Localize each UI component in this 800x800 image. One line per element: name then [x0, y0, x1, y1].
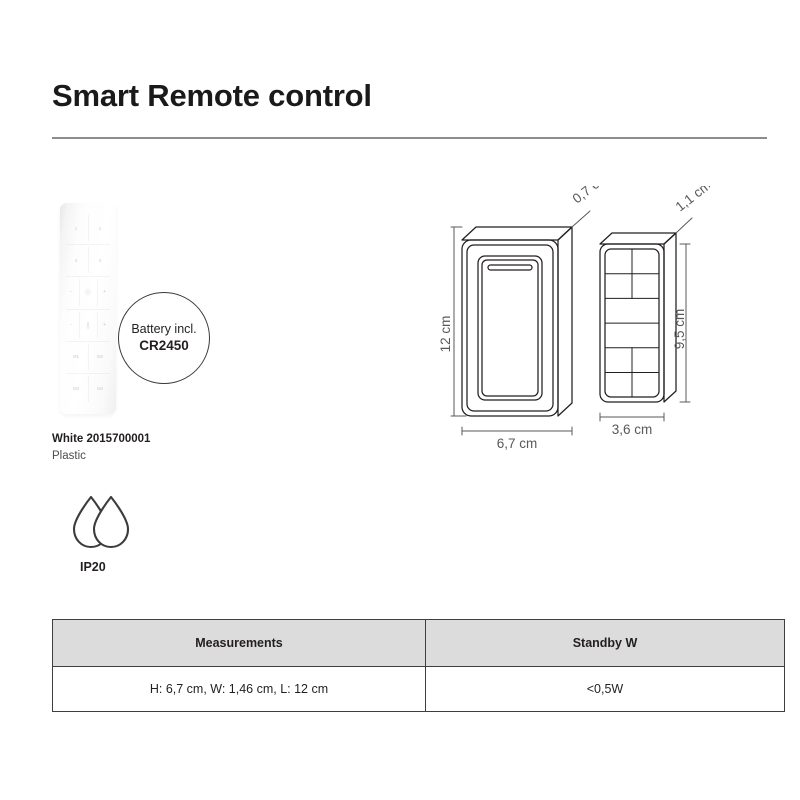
photo-button-row: 1 2	[64, 212, 112, 244]
battery-callout-line2: CR2450	[139, 337, 189, 354]
table-header-standby: Standby W	[426, 620, 785, 667]
table-row: H: 6,7 cm, W: 1,46 cm, L: 12 cm <0,5W	[53, 667, 785, 712]
wall-plate-side-face	[558, 227, 572, 416]
specification-table: Measurements Standby W H: 6,7 cm, W: 1,4…	[52, 619, 785, 712]
technical-drawing: 12 cm 6,7 cm 0,7 cm 9,5 cm 3,6 cm 1,1 cm	[440, 186, 710, 456]
photo-button-row: M3 M4	[64, 373, 112, 405]
dim-label-remote-depth: 1,1 cm	[673, 186, 710, 214]
dim-leader-plate-depth	[572, 211, 590, 227]
dim-label-plate-height: 12 cm	[440, 316, 453, 353]
photo-temperature-minus: -	[64, 309, 79, 341]
remote-top-face	[600, 233, 676, 244]
water-drops-icon	[66, 492, 144, 554]
table-cell-standby: <0,5W	[426, 667, 785, 712]
remote-product-photo: 1 2 3 4 -	[60, 203, 116, 414]
photo-button-2: 2	[88, 212, 112, 244]
dim-label-plate-width: 6,7 cm	[497, 436, 538, 451]
photo-temperature-plus: +	[97, 309, 112, 341]
photo-button-1: 1	[64, 212, 88, 244]
product-photo-area: 1 2 3 4 -	[60, 203, 220, 418]
dim-label-remote-height: 9,5 cm	[672, 309, 687, 350]
wall-plate-slot	[488, 265, 532, 270]
remote-photo-keypad: 1 2 3 4 -	[64, 212, 112, 405]
battery-callout-line1: Battery incl.	[131, 321, 196, 337]
photo-button-row-temperature: - +	[64, 309, 112, 341]
table-cell-measurements: H: 6,7 cm, W: 1,46 cm, L: 12 cm	[53, 667, 426, 712]
title-divider	[52, 137, 767, 139]
page-title: Smart Remote control	[52, 78, 372, 114]
product-caption-name: White 2015700001	[52, 431, 150, 448]
photo-button-row-brightness: -	[64, 276, 112, 308]
photo-button-4: 4	[88, 244, 112, 276]
dim-label-remote-width: 3,6 cm	[612, 422, 653, 437]
table-header-row: Measurements Standby W	[53, 620, 785, 667]
table-header-measurements: Measurements	[53, 620, 426, 667]
product-caption-material: Plastic	[52, 448, 150, 465]
photo-button-m1: M1	[64, 341, 88, 373]
ip-rating-label: IP20	[80, 560, 162, 574]
ip-rating-block: IP20	[66, 492, 162, 574]
product-caption: White 2015700001 Plastic	[52, 431, 150, 464]
wall-plate-top-face	[462, 227, 572, 240]
photo-button-row: M1 M2	[64, 341, 112, 373]
brightness-icon	[79, 276, 97, 308]
photo-button-row: 3 4	[64, 244, 112, 276]
remote-keypad-grid	[605, 249, 659, 397]
dim-leader-remote-depth	[676, 218, 692, 233]
battery-callout-badge: Battery incl. CR2450	[118, 292, 210, 384]
temperature-icon	[79, 309, 97, 341]
photo-button-3: 3	[64, 244, 88, 276]
dim-label-plate-depth: 0,7 cm	[570, 186, 611, 206]
wall-plate-cavity	[478, 256, 542, 400]
wall-plate-front-face	[462, 240, 558, 416]
photo-brightness-plus: +	[97, 276, 112, 308]
photo-button-m3: M3	[64, 373, 88, 405]
photo-button-m4: M4	[88, 373, 112, 405]
photo-button-m2: M2	[88, 341, 112, 373]
photo-brightness-minus: -	[64, 276, 79, 308]
